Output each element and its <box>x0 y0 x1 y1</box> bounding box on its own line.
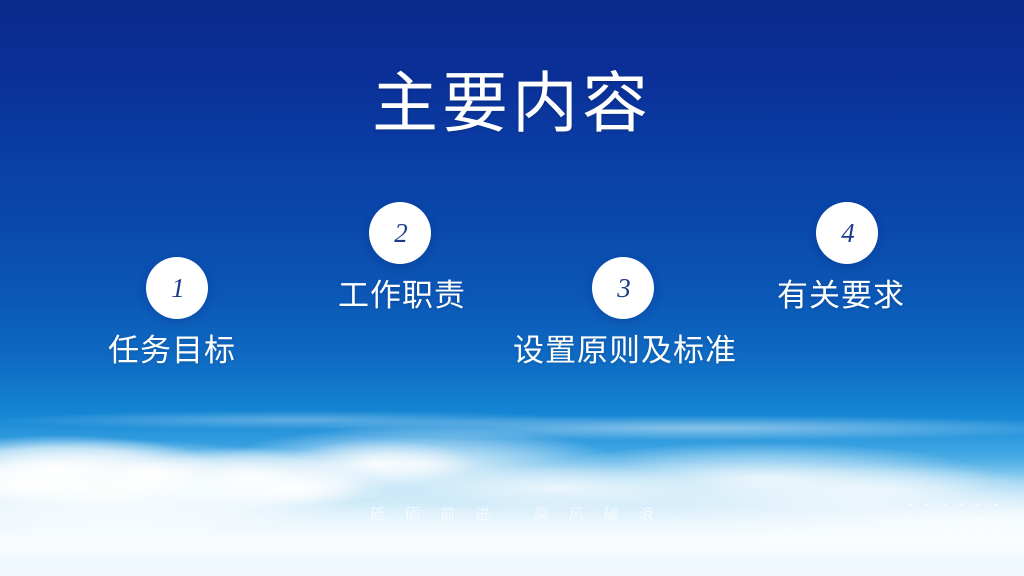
dot-grid-decoration <box>902 498 1006 538</box>
cloud-wisp-layer <box>0 404 1024 484</box>
step-number-3: 3 <box>615 275 631 302</box>
slide-title: 主要内容 <box>0 72 1024 138</box>
step-label-4: 有关要求 <box>777 280 905 311</box>
step-label-3: 设置原则及标准 <box>513 335 737 366</box>
horizon-band <box>0 542 1024 576</box>
presentation-slide: 主要内容 1 任务目标 2 工作职责 3 设置原则及标准 4 有关要求 砥砺前进… <box>0 0 1024 576</box>
step-number-circle-3[interactable]: 3 <box>592 257 654 319</box>
step-label-1: 任务目标 <box>108 335 236 366</box>
step-number-4: 4 <box>839 220 855 247</box>
step-number-circle-1[interactable]: 1 <box>146 257 208 319</box>
step-number-2: 2 <box>392 220 408 247</box>
cloud-haze-layer <box>0 370 1024 576</box>
cloud-foam-layer <box>0 462 1024 576</box>
step-number-circle-2[interactable]: 2 <box>369 202 431 264</box>
watermark-phrase: 砥砺前进 乘风破浪 <box>0 503 1024 524</box>
cloud-crest-layer <box>0 430 1024 576</box>
step-number-circle-4[interactable]: 4 <box>816 202 878 264</box>
step-label-2: 工作职责 <box>338 280 466 311</box>
step-number-1: 1 <box>169 275 185 302</box>
